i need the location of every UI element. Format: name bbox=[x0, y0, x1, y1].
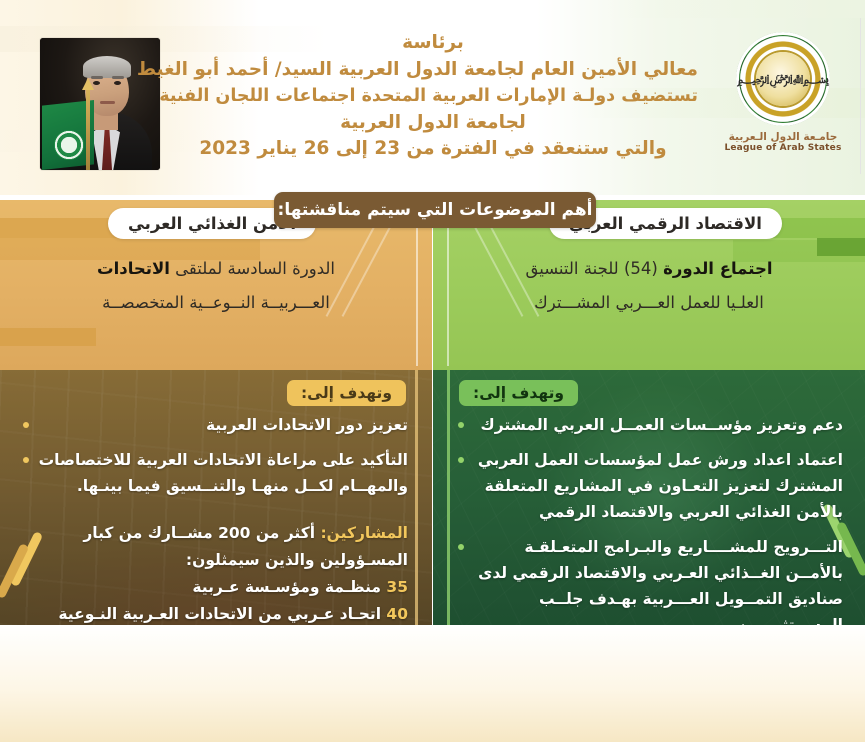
logo-english-name: League of Arab States bbox=[723, 143, 843, 153]
food-panel-body: وتهدف إلى: تعزيز دور الاتحادات العربية ا… bbox=[0, 370, 432, 625]
stat-number: 35 bbox=[386, 578, 408, 596]
header-line-4-dates: والتي ستنعقد في الفترة من 23 إلى 26 يناي… bbox=[168, 136, 698, 163]
footer: الاتحاد العربي للاقتصاد الرقمي ARAB FEDE… bbox=[0, 625, 865, 742]
league-of-arab-states-logo: ﷽ جامـعة الدول الـعربية League of Arab S… bbox=[723, 32, 843, 172]
emblem-seal-text: ﷽ bbox=[756, 52, 810, 106]
list-item: التـــرويج للمشــــاريع والبـرامج المتعـ… bbox=[457, 534, 843, 625]
participants-intro: المشاركين: أكثر من 200 مشــارك من كبار ا… bbox=[48, 520, 408, 574]
list-item: تعزيز دور الاتحادات العربية bbox=[22, 412, 408, 438]
list-item: التأكيد على مراعاة الاتحادات العربية للا… bbox=[22, 447, 408, 499]
header-band-4 bbox=[0, 0, 865, 18]
column-divider bbox=[432, 200, 433, 625]
list-item: دعم وتعزيز مؤســسات العمــل العربي المشت… bbox=[457, 412, 843, 438]
header: برئاسة معالي الأمين العام لجامعة الدول ا… bbox=[0, 0, 865, 195]
digital-subtitle: اجتماع الدورة (54) للجنة التنسيقالعلـيا … bbox=[458, 252, 840, 320]
column-digital-economy: الاقتصاد الرقمي العربي اجتماع الدورة (54… bbox=[433, 200, 865, 625]
list-item: اعتماد اعداد ورش عمل لمؤسسات العمل العرب… bbox=[457, 447, 843, 525]
presidency-label: برئاسة bbox=[168, 30, 698, 57]
stat-text: اتحـاد عـربي من الاتحادات العـربية النـو… bbox=[58, 605, 408, 625]
wreath-emblem-icon: ﷽ bbox=[736, 32, 830, 126]
topics-columns: الأمن الغذائي العربي الدورة السادسة لملت… bbox=[0, 200, 865, 625]
stat-number: 40 bbox=[386, 605, 408, 623]
food-subtitle: الدورة السادسة لملتقى الاتحاداتالعـــربي… bbox=[25, 252, 407, 320]
header-line-1: معالي الأمين العام لجامعة الدول العربية … bbox=[168, 57, 698, 84]
logo-arabic-name: جامـعة الدول الـعربية bbox=[723, 131, 843, 143]
header-divider bbox=[860, 18, 861, 174]
food-participants-stats: المشاركين: أكثر من 200 مشــارك من كبار ا… bbox=[48, 520, 408, 625]
digital-panel-body: وتهدف إلى: دعم وتعزيز مؤســسات العمــل ا… bbox=[433, 370, 865, 625]
poster-root: برئاسة معالي الأمين العام لجامعة الدول ا… bbox=[0, 0, 865, 742]
stat-item-2: 40 اتحـاد عـربي من الاتحادات العـربية ال… bbox=[48, 601, 408, 625]
column-food-security: الأمن الغذائي العربي الدورة السادسة لملت… bbox=[0, 200, 432, 625]
food-goals-badge: وتهدف إلى: bbox=[287, 380, 406, 406]
participants-label: المشاركين: bbox=[320, 524, 408, 542]
header-line-3: لجامعة الدول العربية bbox=[168, 110, 698, 137]
header-text-block: برئاسة معالي الأمين العام لجامعة الدول ا… bbox=[168, 30, 698, 163]
digital-goals-badge: وتهدف إلى: bbox=[459, 380, 578, 406]
stat-text: منظـمة ومؤسـسة عـربية bbox=[192, 578, 381, 596]
header-line-2: تستضيف دولـة الإمارات العربية المتحدة اج… bbox=[168, 83, 698, 110]
digital-goals-list: دعم وتعزيز مؤســسات العمــل العربي المشت… bbox=[457, 412, 843, 625]
stat-item-1: 35 منظـمة ومؤسـسة عـربية bbox=[48, 574, 408, 601]
food-goals-list: تعزيز دور الاتحادات العربية التأكيد على … bbox=[22, 412, 408, 508]
topics-banner: أهم الموضوعات التي سيتم مناقشتها: bbox=[274, 192, 596, 228]
